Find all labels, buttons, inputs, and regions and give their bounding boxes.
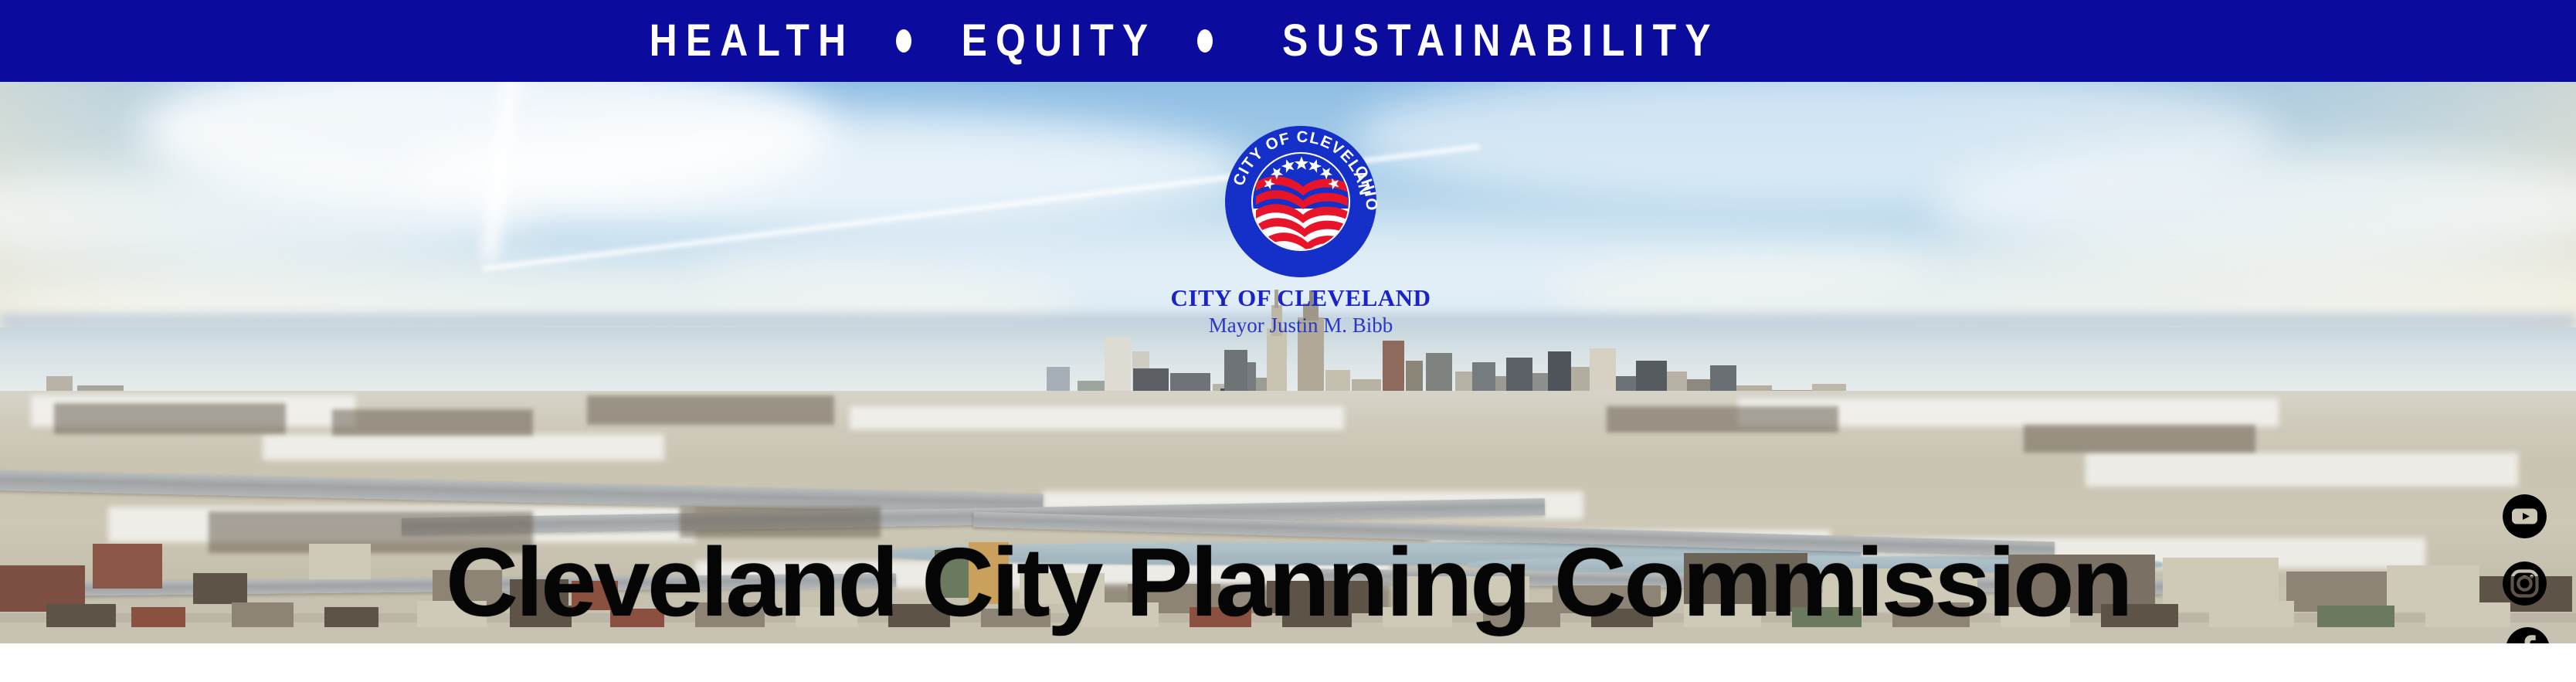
tagline-word-equity: EQUITY [962,19,1157,63]
tagline-word-sustainability: SUSTAINABILITY [1282,19,1719,63]
hero-photo: CITY OF CLEVELAND OHIO [0,82,2576,643]
city-logo[interactable]: CITY OF CLEVELAND OHIO [1154,122,1448,277]
bullet-dot-icon [896,29,911,53]
youtube-icon [2503,494,2547,538]
tagline-word-health: HEALTH [650,19,855,63]
instagram-icon [2503,562,2547,606]
facebook-link[interactable] [2506,627,2550,643]
logo-subtitle: Mayor Justin M. Bibb [1154,314,1448,338]
tagline-banner-inner: HEALTH EQUITY SUSTAINABILITY [633,19,1755,63]
city-of-cleveland-seal-icon: CITY OF CLEVELAND OHIO [1221,122,1380,281]
instagram-link[interactable] [2503,562,2547,606]
facebook-icon [2506,627,2550,643]
footer-white-strip [0,643,2576,682]
social-links [2496,494,2558,643]
page-root: HEALTH EQUITY SUSTAINABILITY [0,0,2576,682]
youtube-link[interactable] [2503,494,2547,538]
bullet-dot-icon [1197,29,1213,53]
logo-title: CITY OF CLEVELAND [1154,284,1448,312]
tagline-banner: HEALTH EQUITY SUSTAINABILITY [0,0,2576,82]
page-title: Cleveland City Planning Commission [0,534,2576,631]
